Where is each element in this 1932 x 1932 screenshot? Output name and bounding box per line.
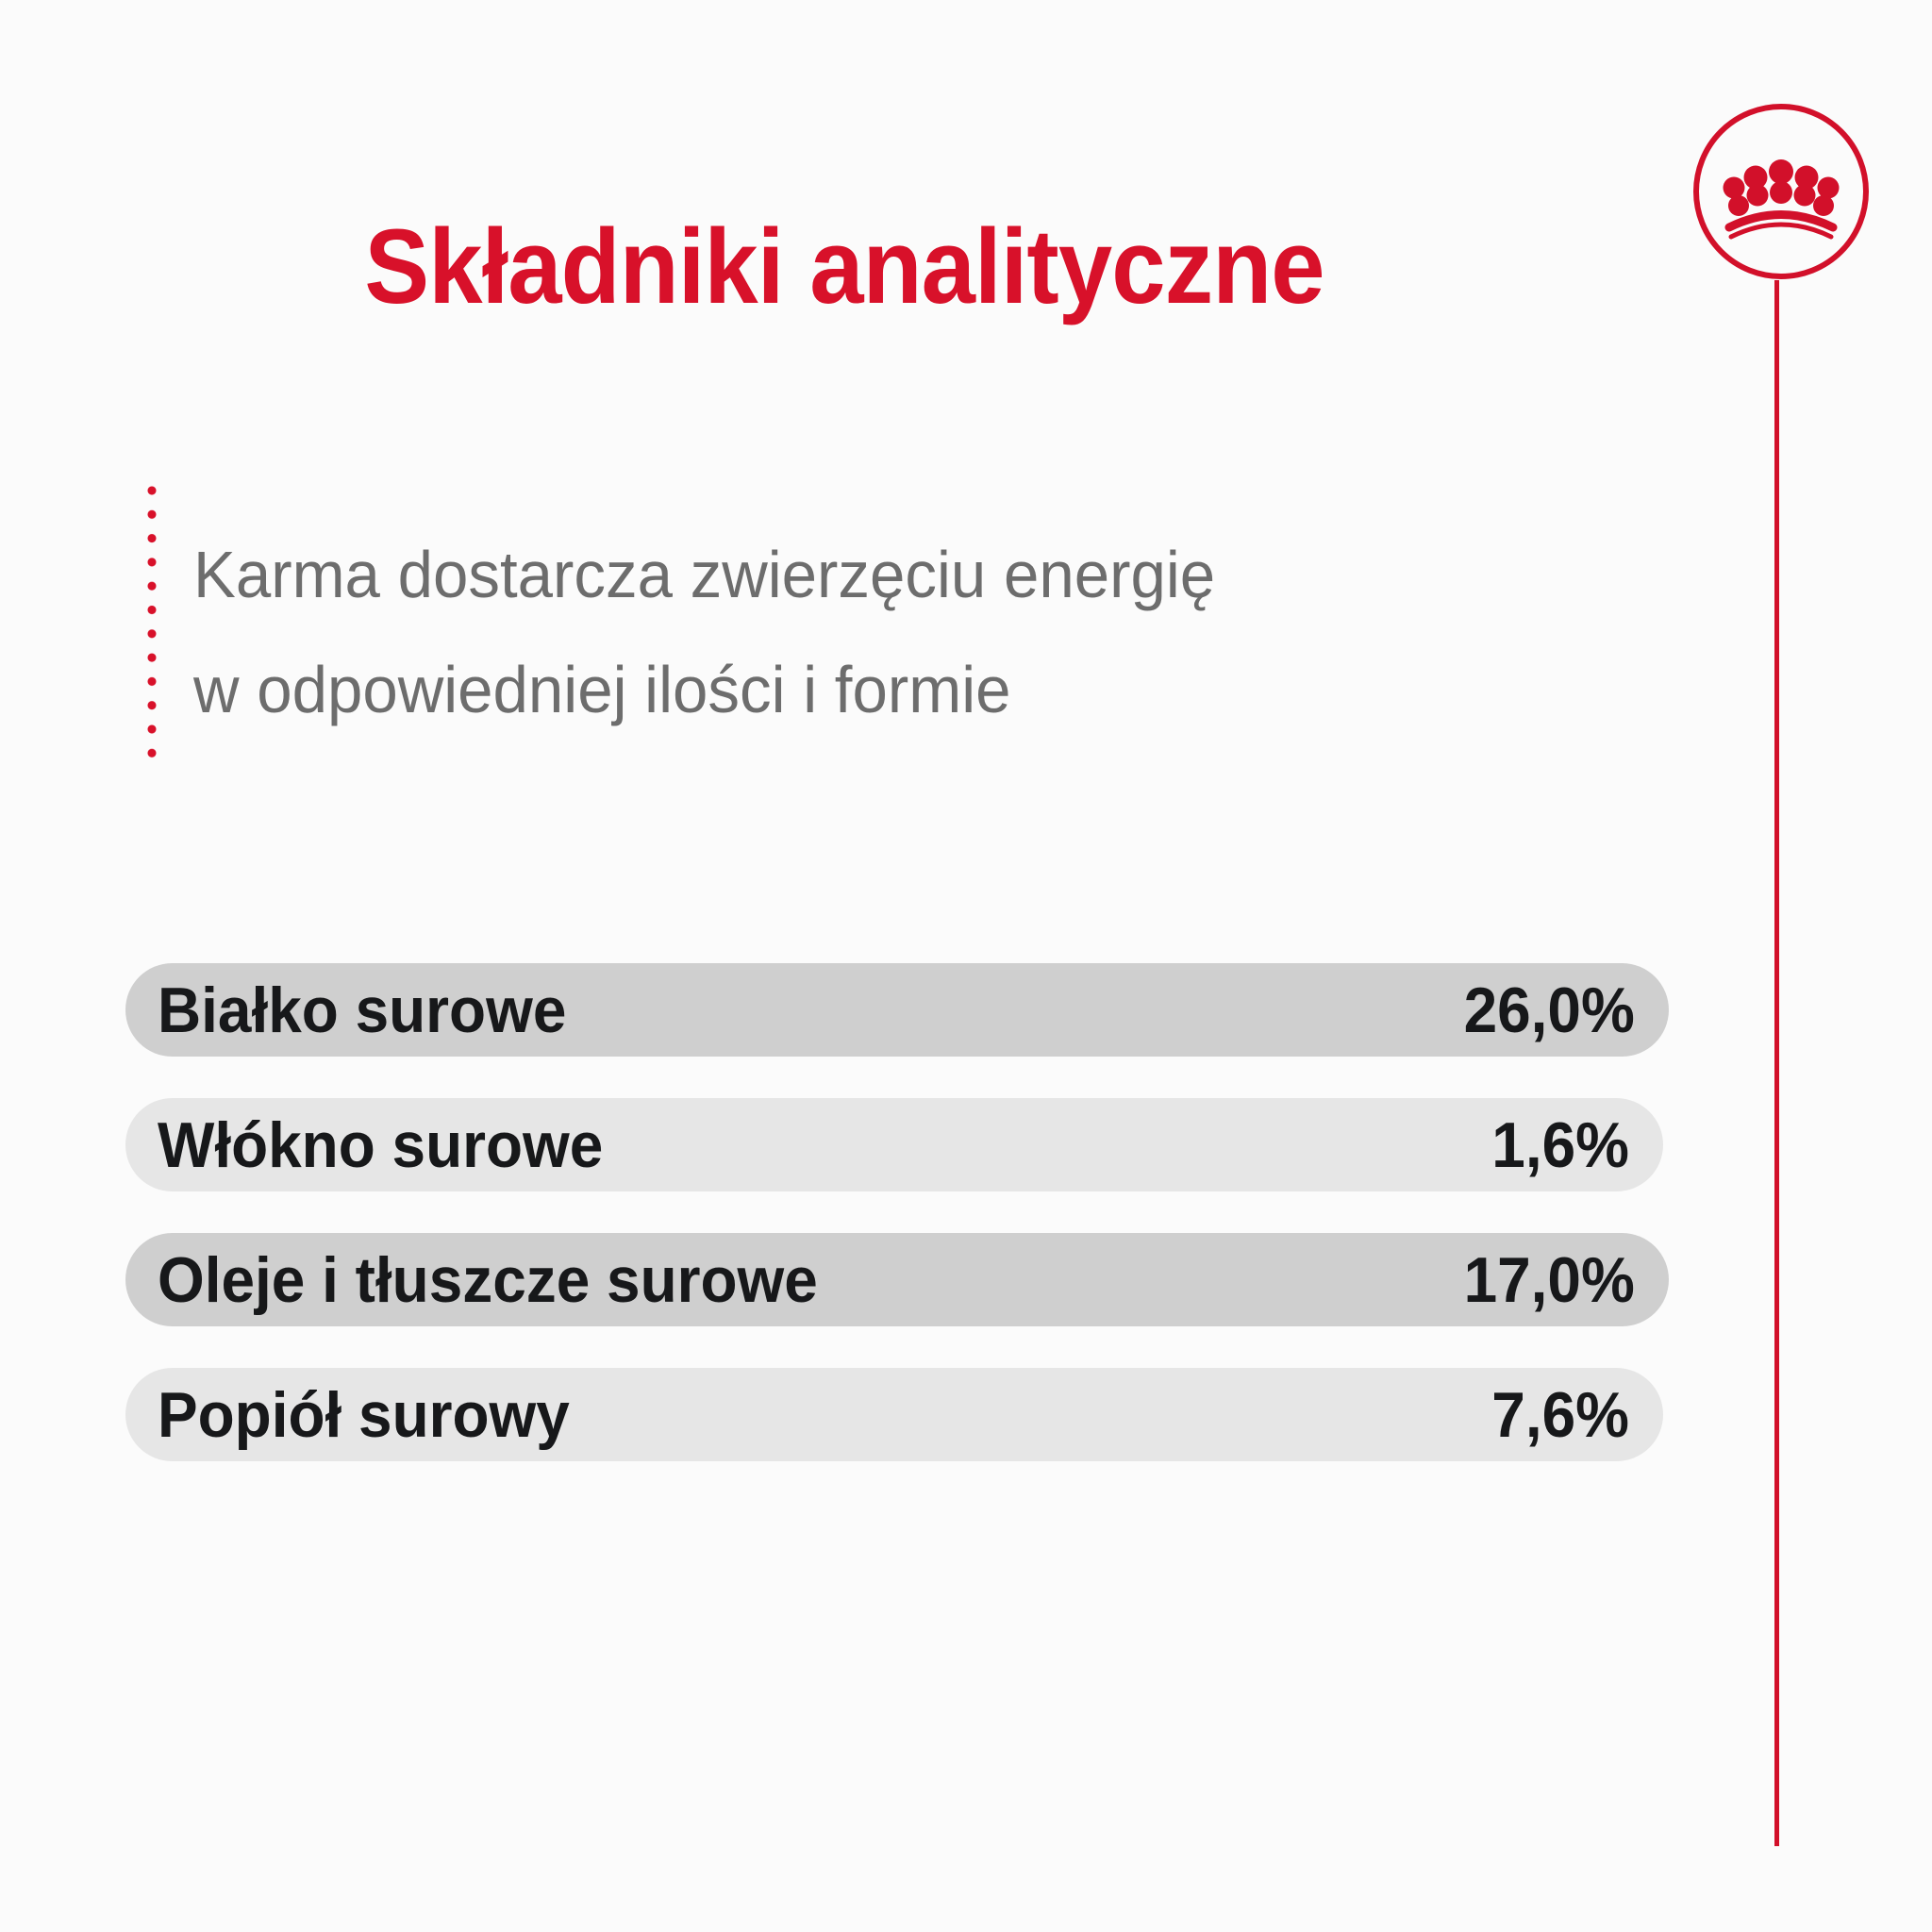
nutrient-label: Białko surowe bbox=[158, 978, 566, 1042]
page-title: Składniki analityczne bbox=[68, 214, 1622, 320]
nutrient-value: 1,6% bbox=[1491, 1113, 1629, 1177]
royal-canin-crown-logo bbox=[1691, 102, 1871, 281]
intro-text: Karma dostarcza zwierzęciu energię w odp… bbox=[193, 517, 1371, 747]
intro-line-1: Karma dostarcza zwierzęciu energię bbox=[193, 517, 1371, 632]
nutrient-value: 17,0% bbox=[1464, 1248, 1635, 1312]
nutrient-list: Białko surowe 26,0% Włókno surowe 1,6% O… bbox=[125, 963, 1673, 1503]
nutrient-row: Oleje i tłuszcze surowe 17,0% bbox=[125, 1233, 1669, 1326]
nutrient-label: Popiół surowy bbox=[158, 1383, 570, 1447]
nutrient-row: Popiół surowy 7,6% bbox=[125, 1368, 1663, 1461]
dotted-accent-rule bbox=[147, 486, 157, 761]
nutrient-row: Włókno surowe 1,6% bbox=[125, 1098, 1663, 1191]
nutrient-label: Włókno surowe bbox=[158, 1113, 603, 1177]
infographic-canvas: Składniki analityczne Karma dostarcza zw… bbox=[0, 0, 1932, 1932]
nutrient-value: 26,0% bbox=[1464, 978, 1635, 1042]
brand-stem-line bbox=[1774, 280, 1779, 1846]
intro-line-2: w odpowiedniej ilości i formie bbox=[193, 632, 1371, 747]
nutrient-row: Białko surowe 26,0% bbox=[125, 963, 1669, 1057]
nutrient-label: Oleje i tłuszcze surowe bbox=[158, 1248, 818, 1312]
nutrient-value: 7,6% bbox=[1491, 1383, 1629, 1447]
